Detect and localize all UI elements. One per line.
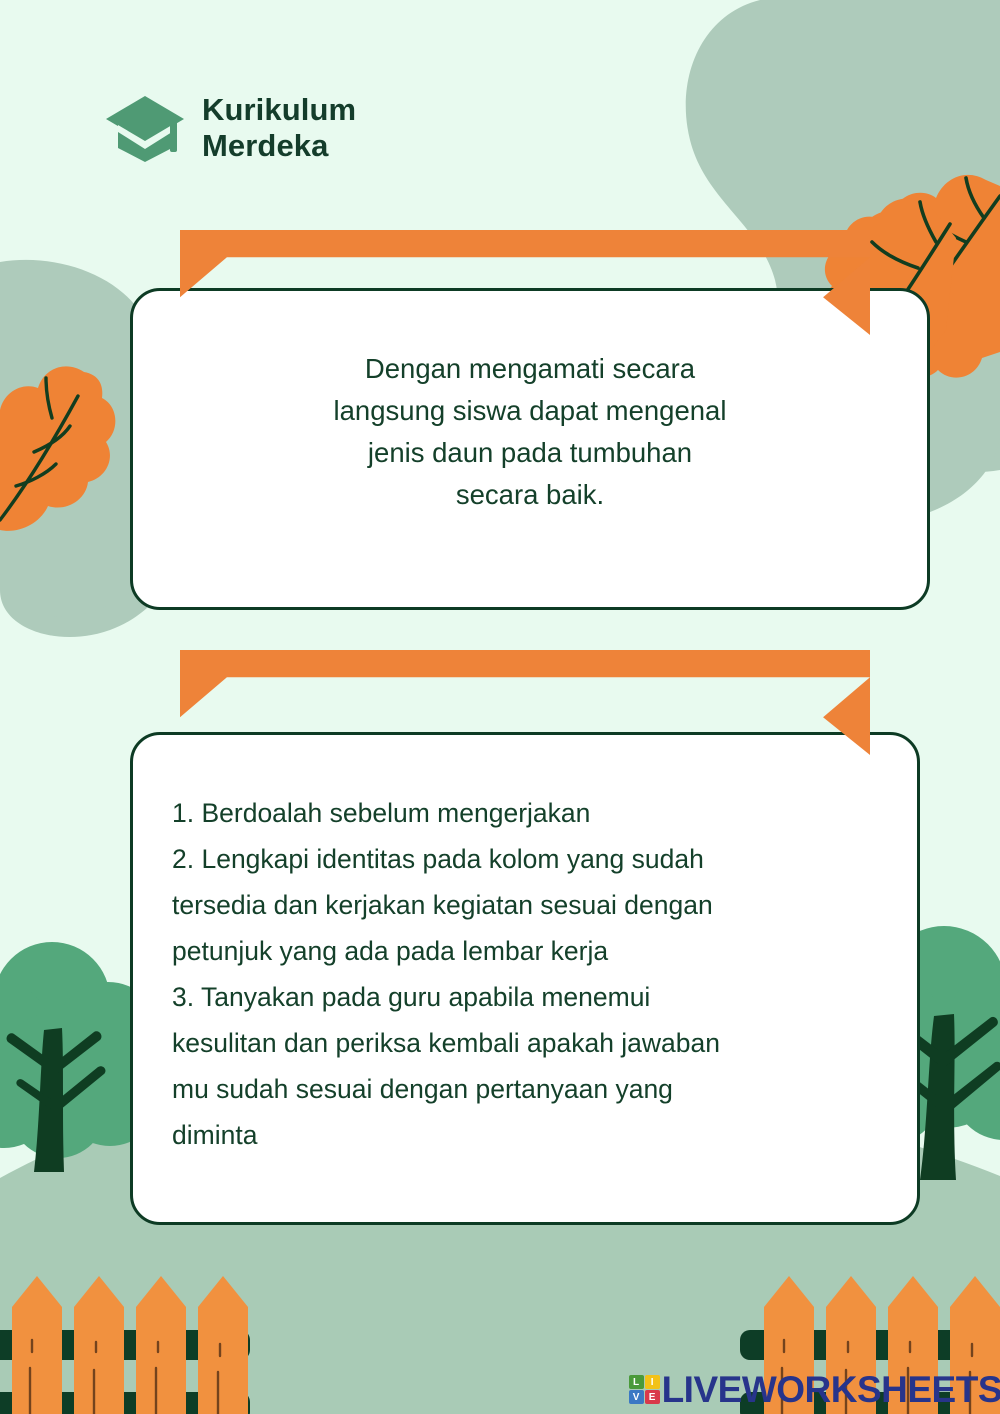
liveworksheets-wordmark: LIVEWORKSHEETS xyxy=(662,1371,1000,1408)
wm-tile-e: E xyxy=(645,1390,660,1404)
instructions-banner-title: Petunjuk Penggunaan xyxy=(359,650,691,718)
instructions-section: Petunjuk Penggunaan 1. Berdoalah sebelum… xyxy=(130,650,870,1225)
graduation-cap-icon xyxy=(104,92,186,164)
brand-header: Kurikulum Merdeka xyxy=(104,92,356,165)
objective-section: Tujuan Pembelajaran Dengan mengamati sec… xyxy=(130,230,870,610)
worksheet-page: Kurikulum Merdeka Tujuan Pembelajaran De… xyxy=(0,0,1000,1414)
wm-tile-v: V xyxy=(629,1390,644,1404)
liveworksheets-logo-icon: L I V E xyxy=(629,1375,660,1404)
objective-body-text: Dengan mengamati secara langsung siswa d… xyxy=(170,348,890,516)
wm-tile-i: I xyxy=(645,1375,660,1389)
wm-tile-l: L xyxy=(629,1375,644,1389)
brand-name: Kurikulum Merdeka xyxy=(202,92,356,165)
liveworksheets-watermark[interactable]: L I V E LIVEWORKSHEETS xyxy=(629,1371,1000,1408)
instructions-body-text: 1. Berdoalah sebelum mengerjakan 2. Leng… xyxy=(172,790,872,1158)
